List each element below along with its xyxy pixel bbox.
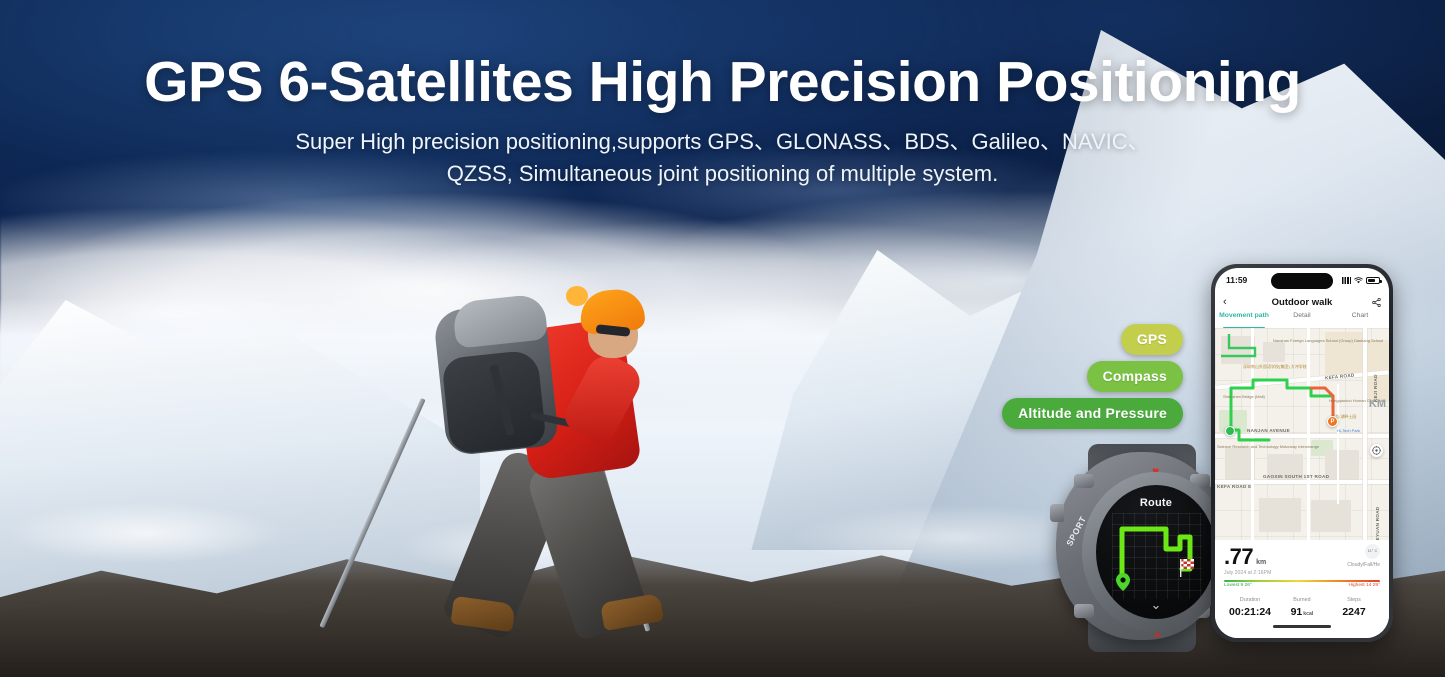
map-scale-label: KM [1369,398,1386,410]
hiker-backpack-top [452,293,548,348]
map-poi-interchange: Science Research and Technology Motorway… [1217,444,1315,449]
hero-banner: GPS 6-Satellites High Precision Position… [0,0,1445,677]
map-road-label-nanjan: NANJAN AVENUE [1247,428,1290,433]
screen-title: Outdoor walk [1215,297,1389,308]
watch-start-pin-icon [1116,573,1130,591]
tab-chart[interactable]: Chart [1331,312,1389,328]
stat-burned-value: 91kcal [1276,606,1328,618]
distance-value: .77 [1224,546,1253,568]
map-road-label-kefa-e: KEFA ROAD E [1217,484,1252,489]
tab-chart-label: Chart [1352,312,1369,319]
watch-button-sport[interactable] [1050,504,1064,522]
smartphone: 11:59 ‹ Outdoor walk [1211,264,1393,642]
stat-duration: Duration 00:21:24 [1224,597,1276,618]
stat-steps-label: Steps [1328,597,1380,603]
map-route-track [1215,328,1389,540]
map-road-label-gaoxin: GAOXIN SOUTH 1ST ROAD [1263,474,1329,479]
hiker-illustration [380,268,680,633]
tab-movement-path-label: Movement path [1219,312,1269,319]
badge-gps-label: GPS [1137,331,1167,347]
status-time: 11:59 [1226,275,1247,285]
status-icons [1342,277,1380,284]
distance-unit: km [1256,559,1266,566]
subtitle-line-2: QZSS, Simultaneous joint positioning of … [0,158,1445,190]
watch-finish-flag-icon [1180,559,1196,577]
activity-summary-sheet: .77 km 11° C July 2024 at 2:16PM Cloudy/… [1215,540,1389,638]
map-end-marker[interactable]: P [1327,416,1338,427]
badge-altitude-pressure-label: Altitude and Pressure [1018,405,1167,421]
stat-duration-value: 00:21:24 [1224,606,1276,618]
temp-lowest: Lowest 9 26° [1224,583,1252,588]
wifi-icon [1354,277,1363,284]
map-start-marker[interactable] [1225,426,1235,436]
tab-detail-label: Detail [1293,312,1310,319]
stat-steps-value: 2247 [1328,606,1380,618]
stat-burned-number: 91 [1291,606,1303,618]
phone-status-bar: 11:59 [1215,268,1389,292]
badge-compass-label: Compass [1103,368,1167,384]
weather-text: Cloudy/Fall/He [1347,562,1380,568]
phone-tab-bar: Movement path Detail Chart [1215,312,1389,328]
feature-badge-list: GPS Compass Altitude and Pressure [1002,324,1183,429]
route-map[interactable]: Nanshan Foreign Languages School (Group)… [1215,328,1389,540]
phone-frame: 11:59 ‹ Outdoor walk [1211,264,1393,642]
tab-detail[interactable]: Detail [1273,312,1331,328]
hero-text-block: GPS 6-Satellites High Precision Position… [0,52,1445,190]
page-title: GPS 6-Satellites High Precision Position… [0,52,1445,112]
stat-burned: Burned 91kcal [1276,597,1328,618]
page-subtitle: Super High precision positioning,support… [0,126,1445,190]
watch-screen[interactable]: Route ⌄ [1096,485,1216,619]
map-road-label-keyuan: KEYUAN ROAD [1375,507,1380,541]
map-poi-hitech: Hi-Tech Park [1337,428,1360,433]
phone-screen: 11:59 ‹ Outdoor walk [1215,268,1389,638]
map-poi-school-cn: 深圳南山外国语学校(集团) 大冲学校 [1243,364,1307,370]
badge-compass[interactable]: Compass [1087,361,1183,392]
hiker-beanie-pom [566,286,588,306]
temperature-row: Lowest 9 26° Highest 14 29° [1224,583,1380,588]
activity-stats: Duration 00:21:24 Burned 91kcal Steps 22… [1224,597,1380,618]
home-indicator[interactable] [1273,625,1331,628]
map-poi-bridge: Shenzhen Bridge (Mall) [1223,394,1259,399]
badge-altitude-pressure[interactable]: Altitude and Pressure [1002,398,1183,429]
watch-lug-tl [1074,474,1094,488]
phone-nav-bar: ‹ Outdoor walk [1215,292,1389,312]
signal-bars-icon [1342,277,1351,284]
watch-case: ♥ ▲ SPORT SEL BACK Route [1056,452,1228,640]
battery-icon [1366,277,1380,284]
locate-glyph [1372,446,1381,455]
tab-movement-path[interactable]: Movement path [1215,312,1273,328]
stat-steps: Steps 2247 [1328,597,1380,618]
stat-duration-label: Duration [1224,597,1276,603]
temperature-gradient-bar [1224,580,1380,582]
map-poi-school: Nanshan Foreign Languages School (Group)… [1273,338,1349,343]
watch-lug-bl [1074,604,1094,618]
weather-chip: 11° C [1365,544,1380,559]
stat-burned-label: Burned [1276,597,1328,603]
activity-date: July 2024 at 2:16PM [1224,570,1380,576]
temp-highest: Highest 14 29° [1348,583,1380,588]
chevron-down-icon[interactable]: ⌄ [1096,598,1216,611]
compass-locate-icon[interactable] [1370,444,1383,457]
stat-burned-unit: kcal [1303,611,1313,617]
badge-gps[interactable]: GPS [1121,324,1183,355]
subtitle-line-1: Super High precision positioning,support… [0,126,1445,158]
